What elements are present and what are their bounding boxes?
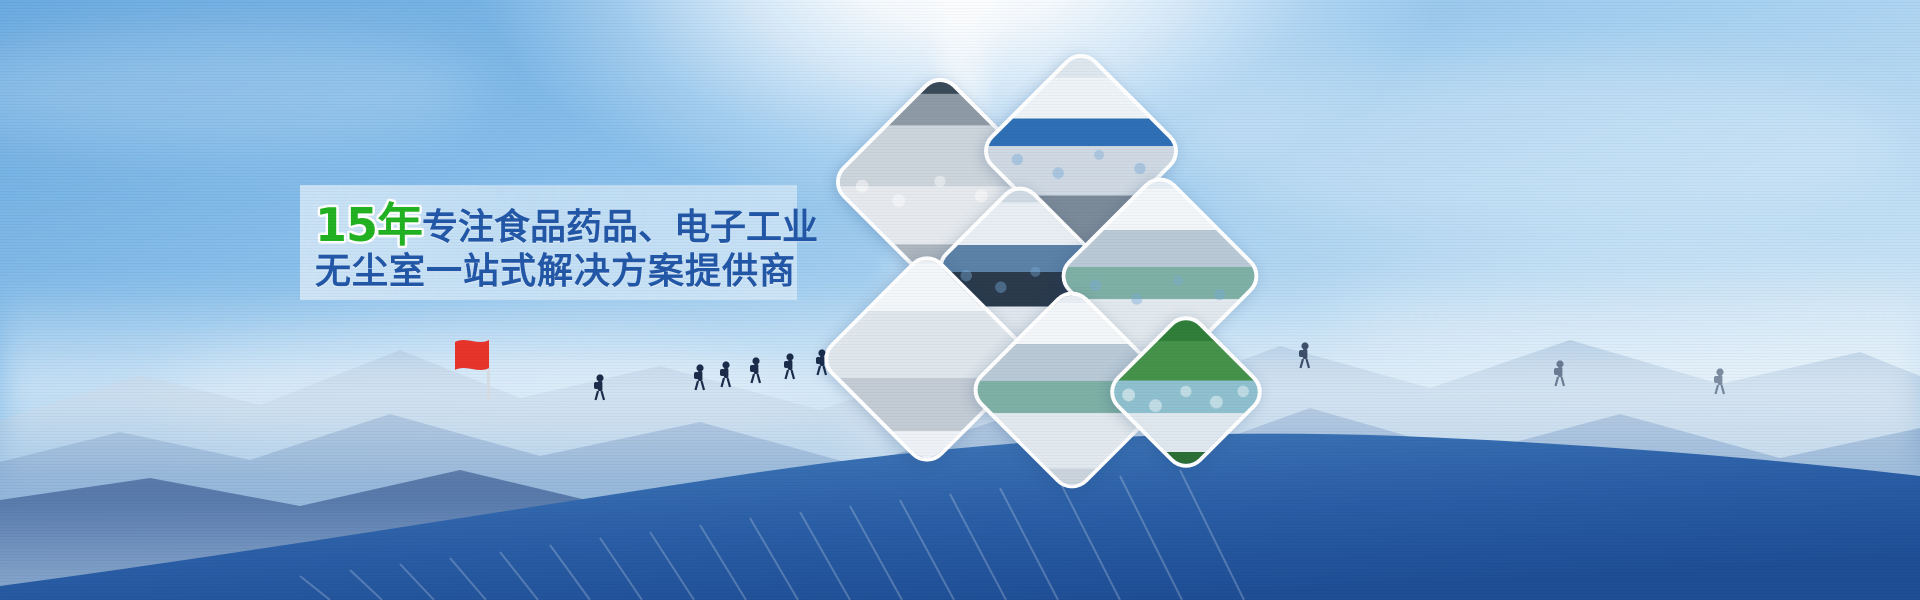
headline-line-1-rest: 专注食品药品、电子工业	[422, 207, 818, 248]
years-badge: 15年	[315, 198, 422, 252]
headline-line-1: 15年专注食品药品、电子工业	[315, 201, 785, 250]
diamond-photo-collage	[836, 82, 1276, 464]
headline-line-2: 无尘室一站式解决方案提供商	[315, 253, 785, 291]
red-flag-left	[455, 340, 490, 400]
hero-banner: 15年专注食品药品、电子工业 无尘室一站式解决方案提供商	[0, 0, 1920, 600]
headline-block: 15年专注食品药品、电子工业 无尘室一站式解决方案提供商	[315, 200, 785, 292]
